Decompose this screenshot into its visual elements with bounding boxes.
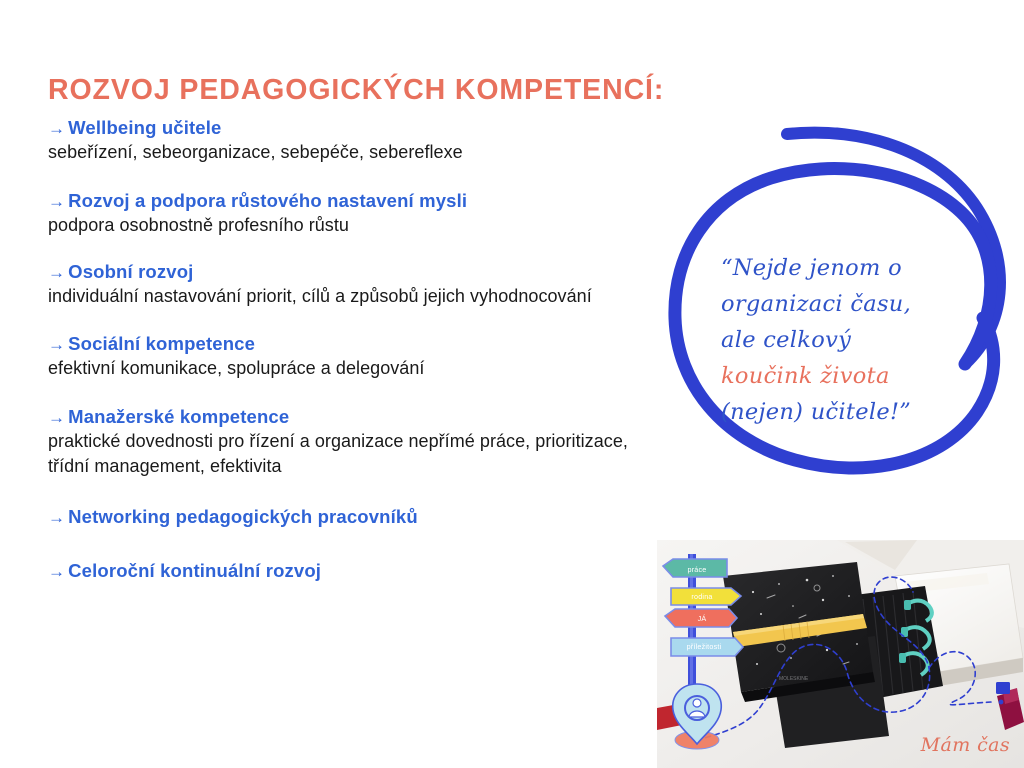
bullet-heading-label: Osobní rozvoj — [68, 261, 193, 282]
quote-text: “Nejde jenom o organizaci času, ale celk… — [721, 250, 971, 430]
competency-list: →Wellbeing učitele sebeřízení, sebeorgan… — [48, 116, 668, 583]
arrow-icon: → — [48, 408, 68, 427]
quote-callout: “Nejde jenom o organizaci času, ale celk… — [665, 112, 1024, 487]
bullet-heading: →Manažerské kompetence — [48, 405, 668, 429]
bullet-body: efektivní komunikace, spolupráce a deleg… — [48, 356, 668, 381]
arrow-icon: → — [48, 119, 68, 138]
bullet-heading: →Rozvoj a podpora růstového nastavení my… — [48, 189, 668, 213]
bullet-body: individuální nastavování priorit, cílů a… — [48, 284, 668, 309]
bullet-heading-label: Wellbeing učitele — [68, 117, 221, 138]
slide-canvas: ROZVOJ PEDAGOGICKÝCH KOMPETENCÍ: →Wellbe… — [0, 0, 1024, 768]
quote-line-4-accent: koučink života — [721, 358, 971, 394]
quote-line-1: “Nejde jenom o — [721, 250, 971, 286]
list-item: →Wellbeing učitele sebeřízení, sebeorgan… — [48, 116, 668, 165]
quote-line-2: organizaci času, — [721, 286, 971, 322]
bullet-heading: →Osobní rozvoj — [48, 260, 668, 284]
bullet-heading: →Celoroční kontinuální rozvoj — [48, 559, 668, 583]
bullet-heading: →Wellbeing učitele — [48, 116, 668, 140]
bullet-heading: →Networking pedagogických pracovníků — [48, 505, 668, 529]
list-item: →Manažerské kompetence praktické dovedno… — [48, 405, 668, 478]
arrow-icon: → — [48, 192, 68, 211]
planner-photo: MOLESKINE — [657, 540, 1024, 768]
list-item: →Sociální kompetence efektivní komunikac… — [48, 332, 668, 381]
list-item: →Rozvoj a podpora růstového nastavení my… — [48, 189, 668, 238]
bullet-body: sebeřízení, sebeorganizace, sebepéče, se… — [48, 140, 668, 165]
bullet-heading: →Sociální kompetence — [48, 332, 668, 356]
arrow-icon: → — [48, 562, 68, 581]
arrow-icon: → — [48, 335, 68, 354]
bullet-heading-label: Manažerské kompetence — [68, 406, 289, 427]
page-title: ROZVOJ PEDAGOGICKÝCH KOMPETENCÍ: — [48, 74, 664, 107]
arrow-icon: → — [48, 263, 68, 282]
quote-line-5: (nejen) učitele!” — [721, 394, 971, 430]
arrow-icon: → — [48, 508, 68, 527]
bullet-heading-label: Celoroční kontinuální rozvoj — [68, 560, 321, 581]
bullet-heading-label: Sociální kompetence — [68, 333, 255, 354]
photo-caption: Mám čas — [921, 734, 1010, 756]
list-item: →Osobní rozvoj individuální nastavování … — [48, 260, 668, 309]
list-item: →Networking pedagogických pracovníků — [48, 505, 668, 529]
bullet-body: podpora osobnostně profesního růstu — [48, 213, 668, 238]
bullet-heading-label: Rozvoj a podpora růstového nastavení mys… — [68, 190, 467, 211]
list-item: →Celoroční kontinuální rozvoj — [48, 559, 668, 583]
svg-text:MOLESKINE: MOLESKINE — [779, 676, 809, 682]
bullet-body: praktické dovednosti pro řízení a organi… — [48, 429, 668, 478]
quote-line-3: ale celkový — [721, 322, 971, 358]
bullet-heading-label: Networking pedagogických pracovníků — [68, 506, 418, 527]
